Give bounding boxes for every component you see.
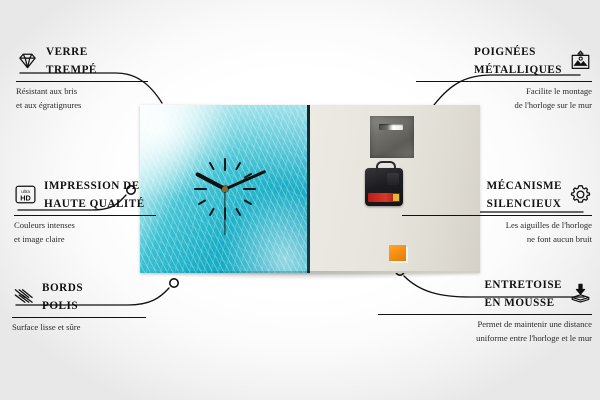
callout-mecanisme-silencieux: MÉCANISME SILENCIEUX Les aiguilles de l'… <box>402 176 592 244</box>
diamond-icon <box>16 49 39 72</box>
callout-rule <box>14 215 156 216</box>
foam-spacer-icon <box>569 282 592 305</box>
hanger-slot <box>379 124 403 130</box>
callout-entretoise-en-mousse: ENTRETOISE EN MOUSSE Permet de maintenir… <box>378 275 592 343</box>
callout-bords-polis: BORDS POLIS Surface lisse et sûre <box>12 278 162 332</box>
callout-head: MÉCANISME SILENCIEUX <box>402 176 592 212</box>
callout-rule <box>16 81 148 82</box>
infographic-canvas: VERRE TREMPÉ Résistant aux bris et aux é… <box>0 0 600 400</box>
callout-rule <box>12 317 146 318</box>
hanging-frame-icon <box>569 49 592 72</box>
callout-head: BORDS POLIS <box>12 278 162 314</box>
callout-title: POIGNÉES MÉTALLIQUES <box>474 42 562 78</box>
callout-rule <box>378 314 592 315</box>
callout-title: BORDS POLIS <box>42 278 83 314</box>
battery-terminal <box>393 194 399 201</box>
callout-poignees-metalliques: POIGNÉES MÉTALLIQUES Facilite le montage… <box>416 42 592 110</box>
callout-verre-trempe: VERRE TREMPÉ Résistant aux bris et aux é… <box>16 42 166 110</box>
hanger-plate <box>370 116 414 158</box>
highlight-glow-bottom <box>222 186 310 273</box>
callout-title: MÉCANISME SILENCIEUX <box>487 176 562 212</box>
callout-title: ENTRETOISE EN MOUSSE <box>484 275 562 311</box>
callout-rule <box>402 215 592 216</box>
callout-impression-haute-qualite: ultra HD IMPRESSION DE HAUTE QUALITÉ Cou… <box>14 176 174 244</box>
leader-dot-bords-polis <box>170 279 178 287</box>
hour-marker-bar <box>194 188 207 190</box>
callout-title: VERRE TREMPÉ <box>46 42 97 78</box>
callout-head: VERRE TREMPÉ <box>16 42 166 78</box>
callout-head: ultra HD IMPRESSION DE HAUTE QUALITÉ <box>14 176 174 212</box>
battery <box>368 193 400 202</box>
mechanism-hanger-loop <box>376 161 396 173</box>
clock-mechanism <box>365 168 403 206</box>
svg-text:HD: HD <box>20 193 31 202</box>
polished-edge-icon <box>12 285 35 308</box>
foam-spacer-pad <box>389 245 406 261</box>
mechanism-housing-detail <box>387 173 399 185</box>
ultra-hd-icon: ultra HD <box>14 183 37 206</box>
callout-title: IMPRESSION DE HAUTE QUALITÉ <box>44 176 145 212</box>
hands-center-cap <box>222 186 228 192</box>
callout-rule <box>416 81 592 82</box>
gear-icon <box>569 183 592 206</box>
callout-head: POIGNÉES MÉTALLIQUES <box>416 42 592 78</box>
callout-head: ENTRETOISE EN MOUSSE <box>378 275 592 311</box>
